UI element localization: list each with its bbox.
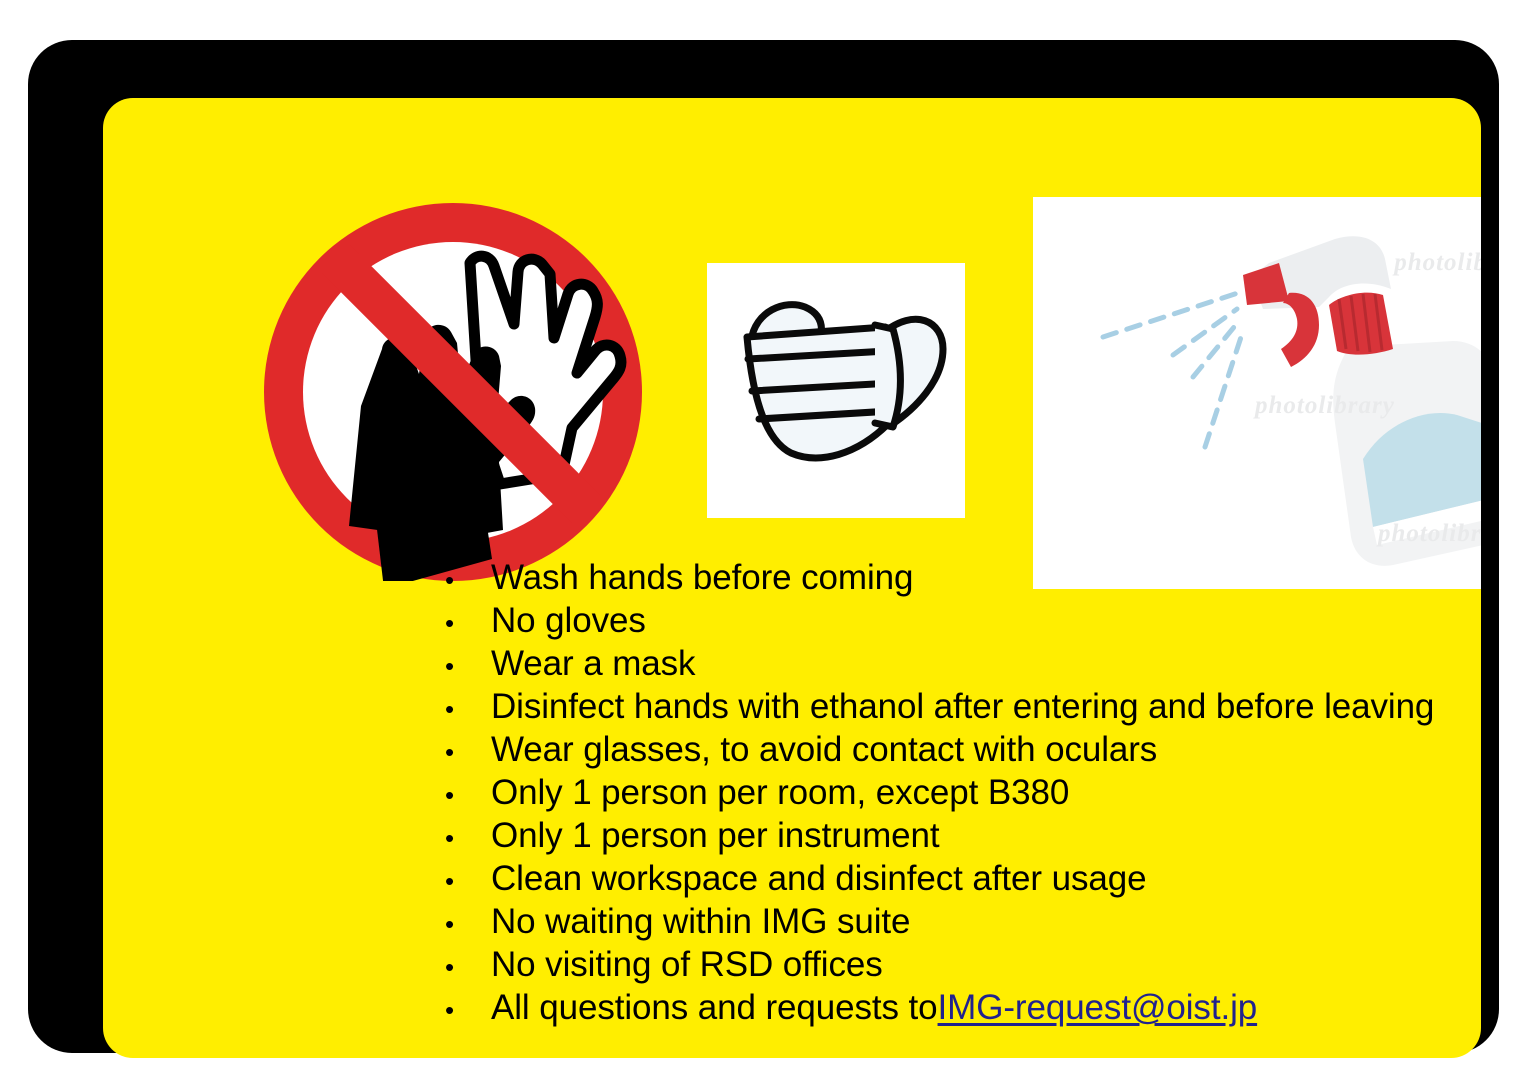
face-mask-icon: [707, 263, 965, 518]
rules-list: • Wash hands before coming • No gloves •…: [431, 556, 1471, 1029]
no-gloves-prohibition-sign: [264, 203, 642, 581]
bullet-icon: •: [431, 602, 491, 645]
list-item: • Only 1 person per room, except B380: [431, 771, 1471, 814]
list-item: • No waiting within IMG suite: [431, 900, 1471, 943]
list-item: • Wear glasses, to avoid contact with oc…: [431, 728, 1471, 771]
rule-text: Only 1 person per room, except B380: [491, 771, 1069, 814]
spray-bottle-icon: [1033, 197, 1481, 589]
bullet-icon: •: [431, 645, 491, 688]
poster-outer-frame: photolibrary photolibrary photolibrary •…: [28, 40, 1499, 1053]
list-item: • No visiting of RSD offices: [431, 943, 1471, 986]
list-item: • Wear a mask: [431, 642, 1471, 685]
list-item: • Disinfect hands with ethanol after ent…: [431, 685, 1471, 728]
list-item: • All questions and requests to IMG-requ…: [431, 986, 1471, 1029]
rule-text: No visiting of RSD offices: [491, 943, 883, 986]
list-item: • Wash hands before coming: [431, 556, 1471, 599]
bullet-icon: •: [431, 559, 491, 602]
rule-text: No waiting within IMG suite: [491, 900, 910, 943]
rule-text: No gloves: [491, 599, 646, 642]
bullet-icon: •: [431, 774, 491, 817]
bullet-icon: •: [431, 903, 491, 946]
bullet-icon: •: [431, 989, 491, 1032]
list-item: • No gloves: [431, 599, 1471, 642]
bullet-icon: •: [431, 817, 491, 860]
surgical-face-mask-image: [707, 263, 965, 518]
disinfectant-spray-bottle-image: photolibrary photolibrary photolibrary: [1033, 197, 1481, 589]
bullet-icon: •: [431, 860, 491, 903]
email-link[interactable]: IMG-request@oist.jp: [938, 986, 1258, 1029]
rule-text: Only 1 person per instrument: [491, 814, 940, 857]
bullet-icon: •: [431, 946, 491, 989]
bullet-icon: •: [431, 731, 491, 774]
rule-text: Disinfect hands with ethanol after enter…: [491, 685, 1434, 728]
no-gloves-icon: [264, 203, 642, 581]
rule-text: Clean workspace and disinfect after usag…: [491, 857, 1146, 900]
poster-yellow-panel: photolibrary photolibrary photolibrary •…: [103, 98, 1481, 1058]
list-item: • Only 1 person per instrument: [431, 814, 1471, 857]
rule-text: Wear a mask: [491, 642, 695, 685]
list-item: • Clean workspace and disinfect after us…: [431, 857, 1471, 900]
bullet-icon: •: [431, 688, 491, 731]
rule-text: All questions and requests to: [491, 986, 938, 1029]
rule-text: Wear glasses, to avoid contact with ocul…: [491, 728, 1157, 771]
rule-text: Wash hands before coming: [491, 556, 913, 599]
